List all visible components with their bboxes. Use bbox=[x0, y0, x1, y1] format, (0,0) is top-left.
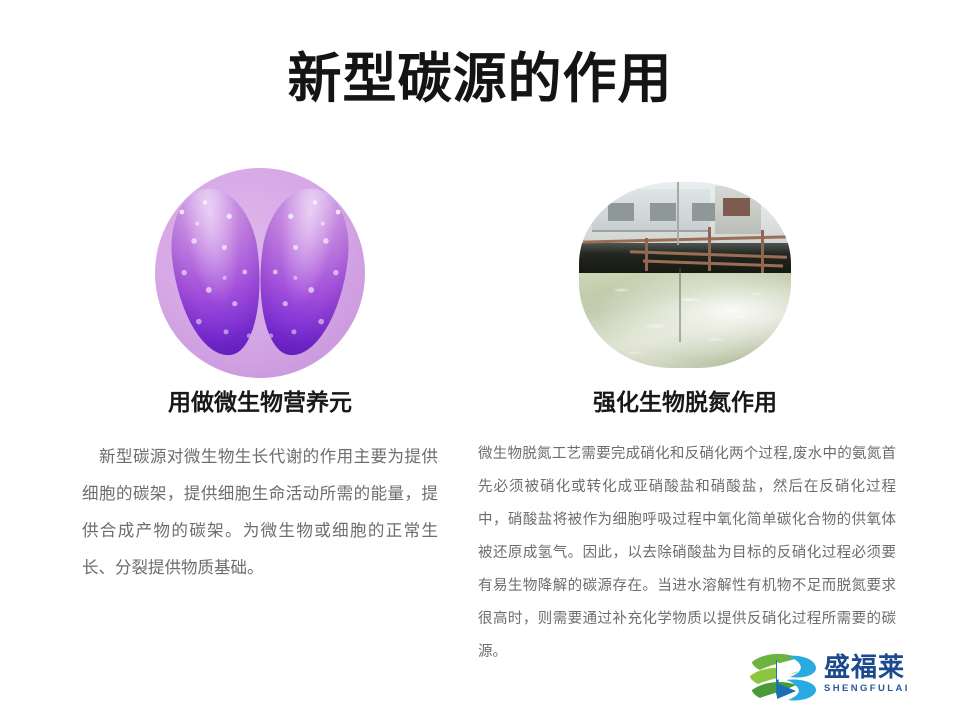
photo-railing-post-1 bbox=[645, 238, 648, 271]
cell-lobe-right bbox=[250, 183, 356, 360]
company-logo: 盛福莱 SHENGFULAI bbox=[746, 648, 942, 710]
section-heading-right: 强化生物脱氮作用 bbox=[470, 388, 900, 418]
section-body-left: 新型碳源对微生物生长代谢的作用主要为提供细胞的碳架，提供细胞生命活动所需的能量，… bbox=[82, 438, 438, 586]
logo-wordmark: 盛福莱 SHENGFULAI bbox=[824, 654, 942, 695]
photo-railing-post-2 bbox=[708, 227, 711, 272]
section-body-right: 微生物脱氮工艺需要完成硝化和反硝化两个过程,废水中的氨氮首先必须被硝化或转化成亚… bbox=[478, 438, 896, 669]
photo-pole bbox=[677, 182, 679, 245]
content-column-left: 用做微生物营养元 新型碳源对微生物生长代谢的作用主要为提供细胞的碳架，提供细胞生… bbox=[60, 160, 460, 378]
shengfulai-mark-icon bbox=[746, 650, 820, 706]
aeration-tank-photo bbox=[579, 182, 791, 368]
cell-lobe-left bbox=[164, 183, 270, 360]
photo-building-right bbox=[715, 186, 762, 234]
content-column-right: 强化生物脱氮作用 微生物脱氮工艺需要完成硝化和反硝化两个过程,废水中的氨氮首先必… bbox=[470, 160, 900, 368]
photo-building-windows bbox=[608, 203, 634, 221]
photo-vertical-cable bbox=[679, 268, 681, 342]
photo-tank-wall bbox=[579, 243, 791, 275]
section-heading-left: 用做微生物营养元 bbox=[60, 388, 460, 418]
microbe-cell-illustration bbox=[155, 168, 365, 378]
logo-name-cn: 盛福莱 bbox=[824, 654, 942, 683]
slide-root: 新型碳源的作用 用做微生物营养元 新型碳源对微生物生长代谢的作用主要为提供细胞的… bbox=[0, 0, 960, 720]
photo-building-left bbox=[592, 189, 711, 232]
page-title: 新型碳源的作用 bbox=[0, 48, 960, 110]
photo-aerated-water bbox=[579, 273, 791, 368]
logo-name-en: SHENGFULAI bbox=[824, 683, 942, 695]
